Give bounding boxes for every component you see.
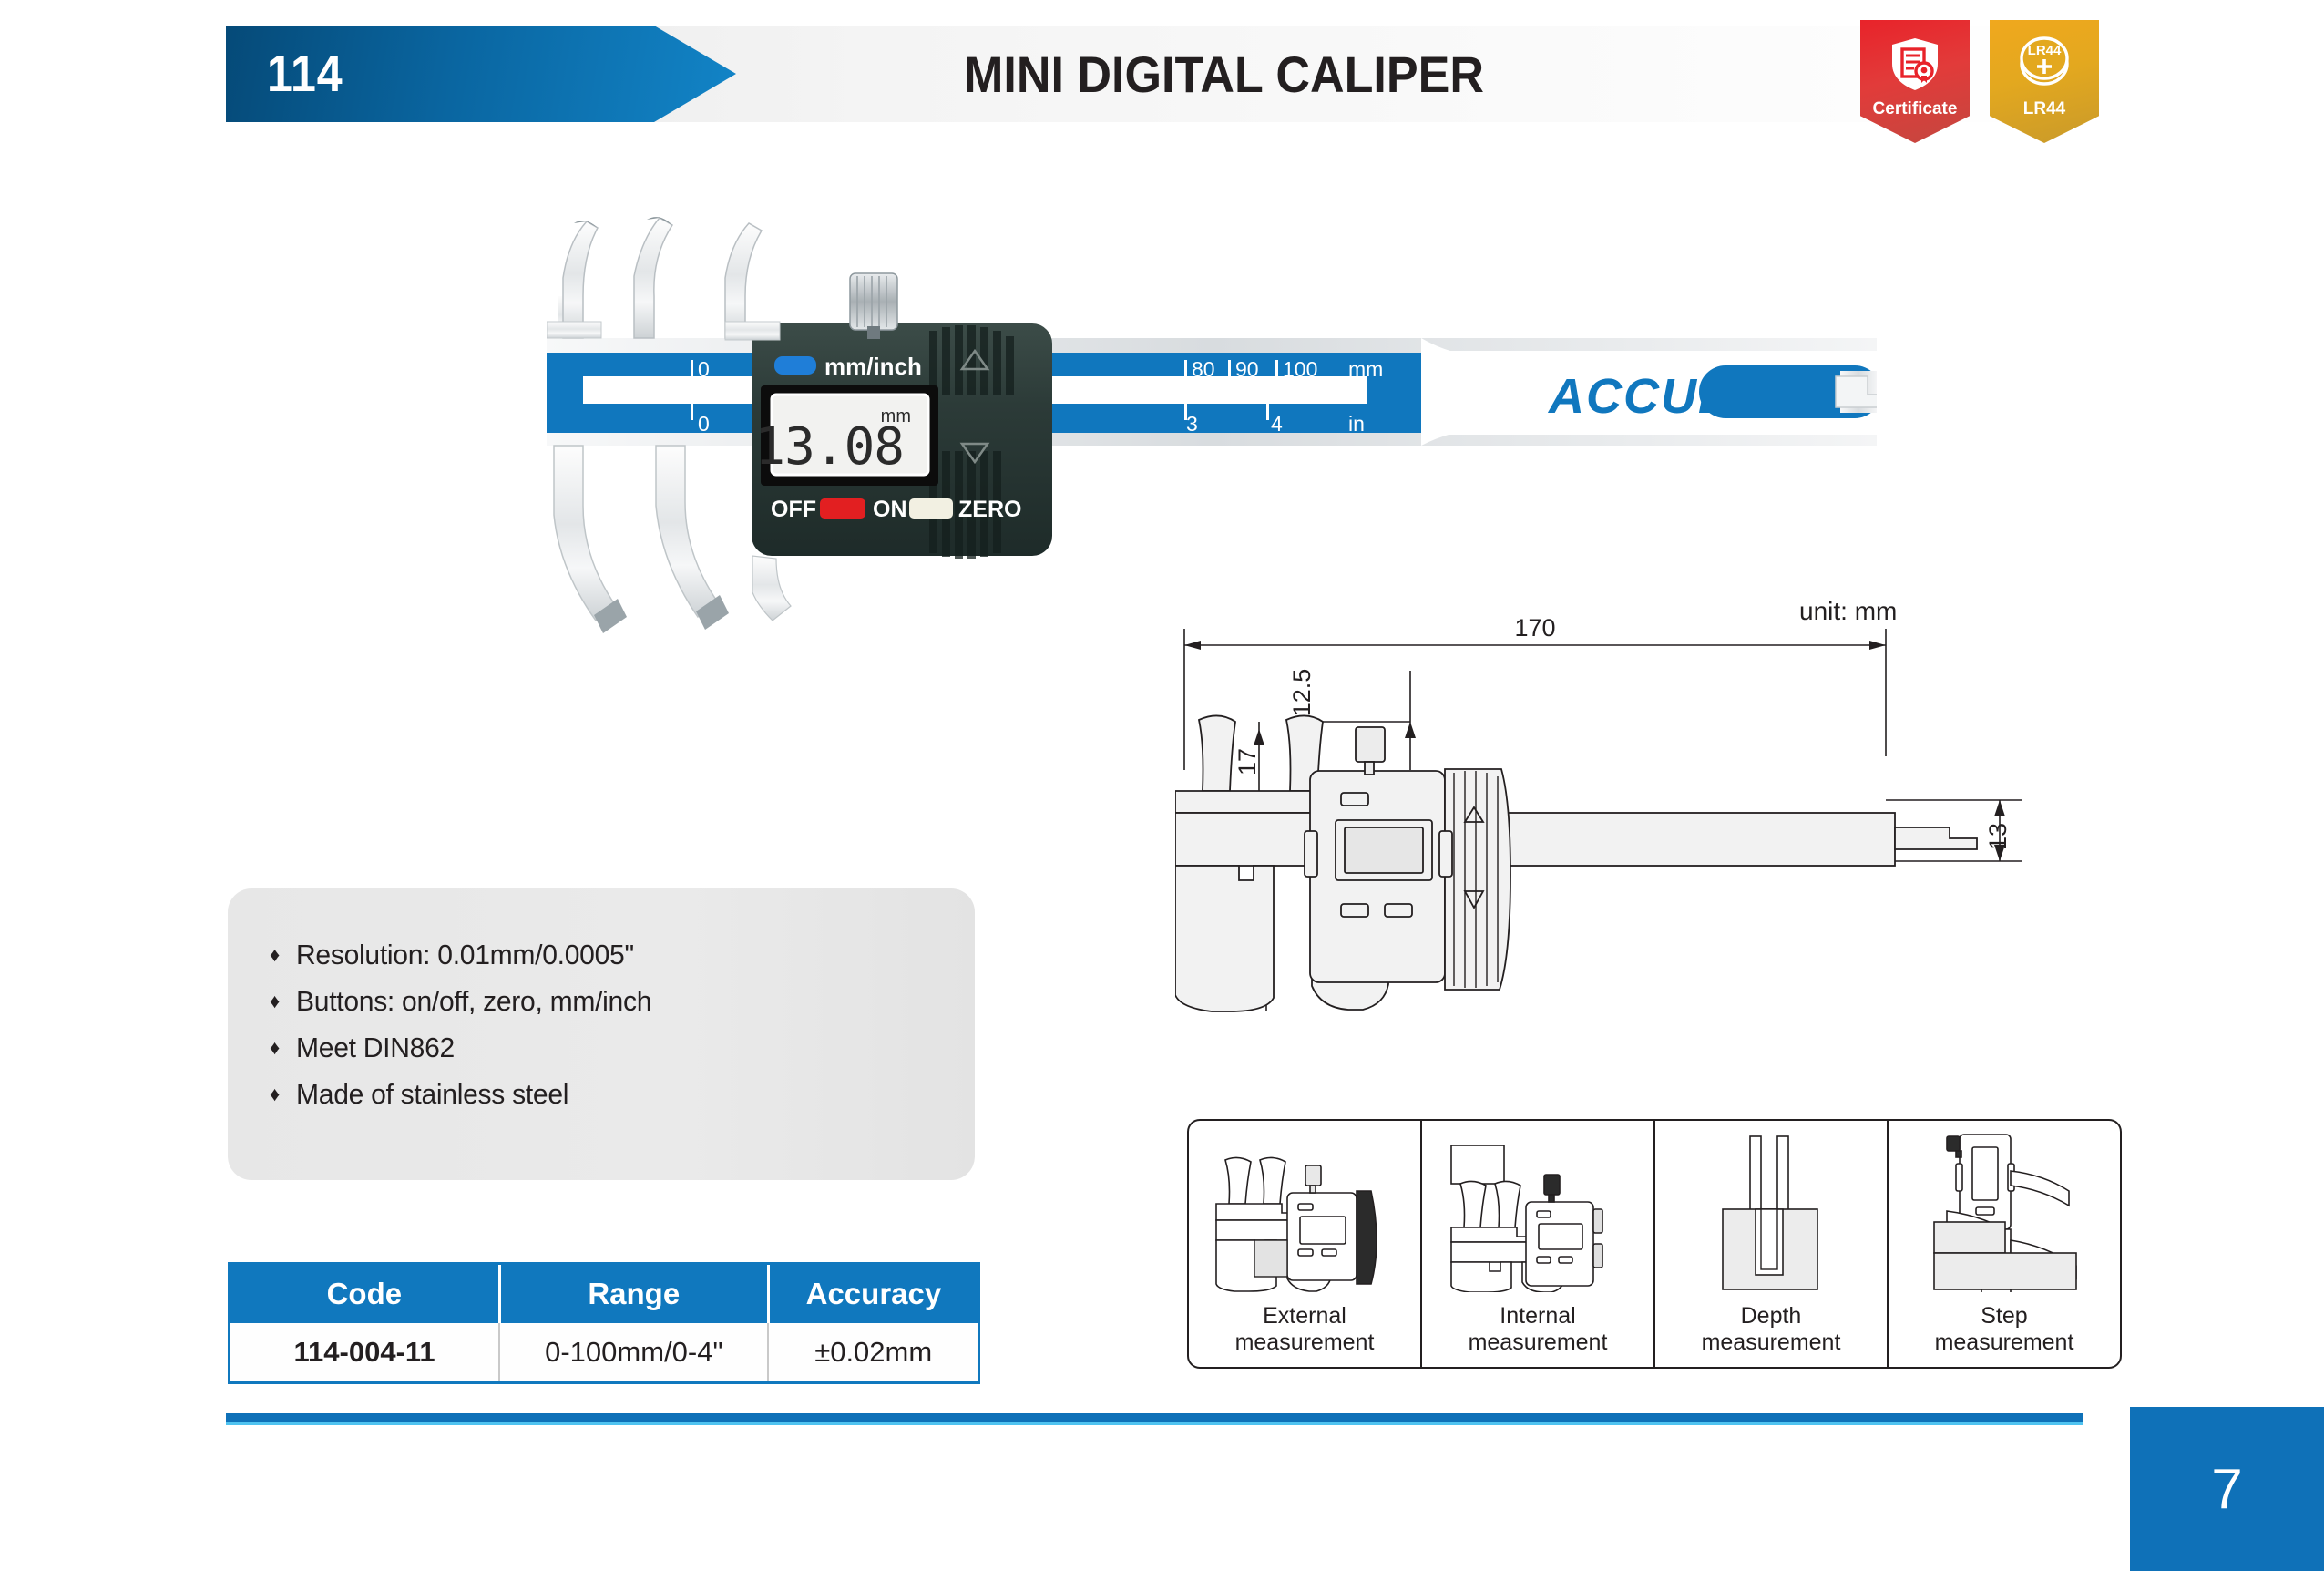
step-measurement: Step measurement <box>1889 1121 2120 1367</box>
column-header-code: Code <box>230 1265 499 1323</box>
depth-measurement-caption: Depth measurement <box>1702 1303 1841 1367</box>
battery-badge: LR44 LR44 <box>1990 20 2099 143</box>
svg-text:in: in <box>1348 412 1365 436</box>
table-row: 114-004-11 0-100mm/0-4" ±0.02mm <box>230 1323 978 1381</box>
dim-170: 170 <box>1514 614 1555 642</box>
feature-text: Resolution: 0.01mm/0.0005" <box>296 936 634 974</box>
certificate-badge-label: Certificate <box>1860 99 1970 119</box>
dimension-drawing: 170 12.5 17 30 13 <box>1175 583 2141 1021</box>
step-measurement-icon <box>1889 1121 2120 1303</box>
dim-17: 17 <box>1234 748 1261 775</box>
external-measurement-caption: External measurement <box>1235 1303 1375 1367</box>
cell-accuracy: ±0.02mm <box>768 1323 978 1381</box>
internal-measurement-caption: Internal measurement <box>1469 1303 1608 1367</box>
battery-badge-label: LR44 <box>1990 99 2099 119</box>
external-measurement: External measurement <box>1189 1121 1422 1367</box>
depth-measurement: Depth measurement <box>1655 1121 1889 1367</box>
svg-text:0: 0 <box>698 357 710 381</box>
table-header-row: Code Range Accuracy <box>230 1265 978 1323</box>
cell-code: 114-004-11 <box>230 1323 499 1381</box>
svg-text:LR44: LR44 <box>2028 43 2062 58</box>
certificate-badge: Certificate <box>1860 20 1970 143</box>
footer-divider <box>226 1413 2083 1422</box>
svg-text:ON: ON <box>873 497 907 522</box>
svg-text:mm: mm <box>1348 357 1383 381</box>
footer-divider-accent <box>226 1422 2083 1425</box>
battery-icon: LR44 <box>2014 33 2074 94</box>
svg-text:100: 100 <box>1283 357 1317 381</box>
svg-text:0: 0 <box>698 412 710 436</box>
svg-text:80: 80 <box>1192 357 1215 381</box>
page-number-box: 7 <box>2130 1407 2324 1571</box>
product-photo: 0 10 0 80 90 100 mm 3 4 in ACCUD <box>547 178 1877 642</box>
page-title: MINI DIGITAL CALIPER <box>964 26 1484 122</box>
measurement-method-panel: External measurement <box>1187 1119 2122 1369</box>
bullet-icon: ♦ <box>270 1029 280 1067</box>
bullet-icon: ♦ <box>270 1075 280 1114</box>
internal-measurement: Internal measurement <box>1422 1121 1655 1367</box>
product-series-banner: 114 <box>226 26 736 122</box>
certificate-icon <box>1887 36 1943 97</box>
spec-table: Code Range Accuracy 114-004-11 0-100mm/0… <box>228 1262 980 1384</box>
svg-text:OFF: OFF <box>771 497 816 522</box>
column-header-range: Range <box>499 1265 768 1323</box>
feature-item: ♦ Meet DIN862 <box>270 1029 975 1067</box>
internal-measurement-icon <box>1422 1121 1653 1303</box>
feature-text: Buttons: on/off, zero, mm/inch <box>296 982 651 1021</box>
column-header-accuracy: Accuracy <box>768 1265 978 1323</box>
feature-item: ♦ Made of stainless steel <box>270 1075 975 1114</box>
svg-text:ZERO: ZERO <box>958 497 1021 522</box>
feature-item: ♦ Buttons: on/off, zero, mm/inch <box>270 982 975 1021</box>
bullet-icon: ♦ <box>270 982 280 1021</box>
step-measurement-caption: Step measurement <box>1935 1303 2074 1367</box>
depth-measurement-icon <box>1655 1121 1887 1303</box>
feature-text: Made of stainless steel <box>296 1075 568 1114</box>
series-number: 114 <box>267 44 343 104</box>
page-header: 114 MINI DIGITAL CALIPER <box>226 26 2083 122</box>
svg-text:3: 3 <box>1186 412 1198 436</box>
dim-12-5: 12.5 <box>1288 669 1316 717</box>
svg-text:4: 4 <box>1271 412 1283 436</box>
feature-item: ♦ Resolution: 0.01mm/0.0005" <box>270 936 975 974</box>
dim-13: 13 <box>1984 823 2012 850</box>
feature-text: Meet DIN862 <box>296 1029 455 1067</box>
external-measurement-icon <box>1189 1121 1420 1303</box>
svg-text:13.08: 13.08 <box>754 417 904 477</box>
svg-text:90: 90 <box>1235 357 1259 381</box>
cell-range: 0-100mm/0-4" <box>499 1323 768 1381</box>
page-number: 7 <box>2211 1457 2242 1522</box>
bullet-icon: ♦ <box>270 936 280 974</box>
svg-text:mm/inch: mm/inch <box>824 353 922 380</box>
features-box: ♦ Resolution: 0.01mm/0.0005" ♦ Buttons: … <box>228 888 975 1180</box>
badge-group: Certificate LR44 LR44 <box>1860 20 2099 143</box>
